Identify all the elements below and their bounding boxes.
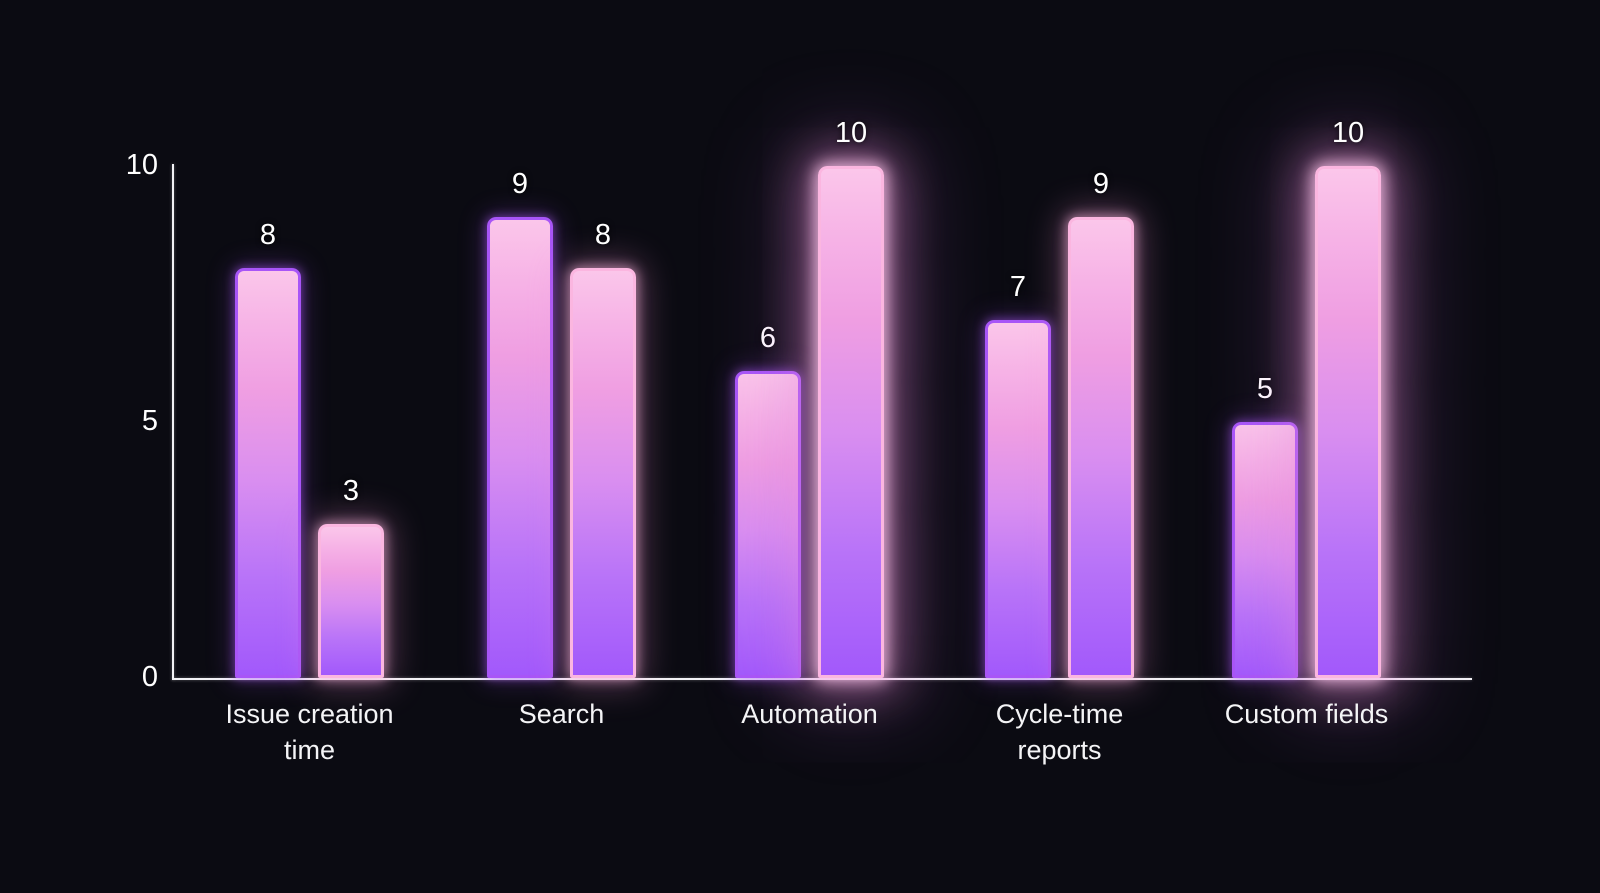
y-axis-line: [172, 164, 174, 680]
bar-3-series-2[interactable]: [818, 166, 884, 678]
category-label-5: Custom fields: [1187, 697, 1427, 733]
bar-4-series-1[interactable]: [985, 320, 1051, 678]
bar-1-series-1[interactable]: [235, 268, 301, 678]
bar-5-series-1[interactable]: [1232, 422, 1298, 678]
x-axis-line: [172, 678, 1472, 680]
bar-value-label-1-series-2: 3: [311, 477, 391, 506]
y-tick-label-0: 0: [98, 663, 158, 692]
bar-3-series-1[interactable]: [735, 371, 801, 678]
bar-2-series-2[interactable]: [570, 268, 636, 678]
y-tick-label-5: 5: [98, 407, 158, 436]
bar-5-series-2[interactable]: [1315, 166, 1381, 678]
bar-value-label-2-series-2: 8: [563, 221, 643, 250]
category-label-line: Cycle-time: [940, 697, 1180, 733]
category-label-line: Issue creation: [190, 697, 430, 733]
bar-value-label-1-series-1: 8: [228, 221, 308, 250]
y-tick-label-10: 10: [98, 151, 158, 180]
category-label-line: reports: [940, 733, 1180, 769]
bar-value-label-3-series-2: 10: [811, 119, 891, 148]
bar-1-series-2[interactable]: [318, 524, 384, 678]
bar-2-series-1[interactable]: [487, 217, 553, 678]
category-label-1: Issue creationtime: [190, 697, 430, 768]
bar-value-label-2-series-1: 9: [480, 170, 560, 199]
bar-value-label-5-series-2: 10: [1308, 119, 1388, 148]
category-label-4: Cycle-timereports: [940, 697, 1180, 768]
bar-value-label-4-series-1: 7: [978, 273, 1058, 302]
category-label-line: time: [190, 733, 430, 769]
category-label-line: Search: [442, 697, 682, 733]
category-label-2: Search: [442, 697, 682, 733]
bar-value-label-4-series-2: 9: [1061, 170, 1141, 199]
bar-value-label-3-series-1: 6: [728, 324, 808, 353]
bar-chart-plot-area: 0510 839861079510 Issue creationtimeSear…: [0, 0, 1600, 893]
category-label-3: Automation: [690, 697, 930, 733]
category-label-line: Automation: [690, 697, 930, 733]
category-label-line: Custom fields: [1187, 697, 1427, 733]
bar-value-label-5-series-1: 5: [1225, 375, 1305, 404]
bar-4-series-2[interactable]: [1068, 217, 1134, 678]
chart-canvas: 0510 839861079510 Issue creationtimeSear…: [0, 0, 1600, 893]
